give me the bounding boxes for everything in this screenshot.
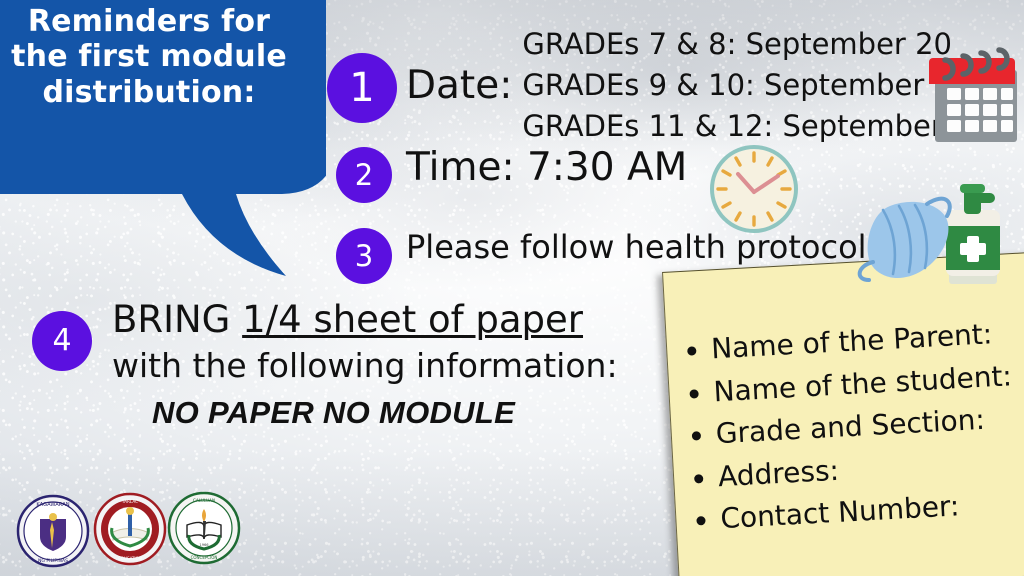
calendar-icon <box>925 36 1024 148</box>
number-badge-1: 1 <box>327 53 397 123</box>
clock-icon <box>707 142 801 236</box>
svg-text:CALULUAN: CALULUAN <box>193 498 215 503</box>
svg-text:NG PILIPINAS: NG PILIPINAS <box>38 558 68 564</box>
no-paper-no-module-emphasis: NO PAPER NO MODULE <box>152 396 682 430</box>
yellow-sticky-note: Name of the Parent: Name of the student:… <box>662 252 1024 576</box>
date-lines: GRADEs 7 & 8: September 20 GRADEs 9 & 10… <box>522 24 989 148</box>
number-badge-2: 2 <box>336 147 392 203</box>
surgical-mask <box>860 199 950 280</box>
bring-underlined-text: 1/4 sheet of paper <box>242 298 583 341</box>
bubble-line-2: the first module <box>0 39 302 74</box>
deped-seal: KAGAWARAN NG PILIPINAS <box>16 494 90 568</box>
poster-canvas: Reminders for the first module distribut… <box>0 0 1024 576</box>
date-line-grades-7-8: GRADEs 7 & 8: September 20 <box>522 24 989 65</box>
time-item: Time: 7:30 AM <box>406 148 687 187</box>
bubble-line-1: Reminders for <box>0 4 302 39</box>
number-badge-3: 3 <box>336 228 392 284</box>
speech-bubble-text: Reminders for the first module distribut… <box>0 4 302 110</box>
caluluan-high-school-seal: CALULUAN 1966 CONCEPCION <box>167 491 241 565</box>
schools-division-tarlac-seal: TARLAC EDUCATION <box>93 492 167 566</box>
sanitizer-bottle <box>946 184 1000 284</box>
svg-text:KAGAWARAN: KAGAWARAN <box>36 502 69 508</box>
number-badge-4: 4 <box>32 311 92 371</box>
required-information-list: Name of the Parent: Name of the student:… <box>682 312 1020 542</box>
bring-paper-item: BRING 1/4 sheet of paper with the follow… <box>112 300 682 430</box>
date-label: Date: <box>406 66 512 105</box>
reminders-speech-bubble: Reminders for the first module distribut… <box>0 0 326 284</box>
bring-prefix: BRING <box>112 298 242 341</box>
date-line-grades-9-10: GRADEs 9 & 10: September 21 <box>522 65 989 106</box>
svg-text:TARLAC: TARLAC <box>121 499 138 504</box>
svg-text:EDUCATION: EDUCATION <box>118 556 142 561</box>
date-item: Date: GRADEs 7 & 8: September 20 GRADEs … <box>406 24 946 148</box>
svg-text:CONCEPCION: CONCEPCION <box>191 555 218 560</box>
bring-subline: with the following information: <box>112 348 682 385</box>
svg-text:1966: 1966 <box>199 543 209 547</box>
bubble-line-3: distribution: <box>0 75 302 110</box>
bring-paper-headline: BRING 1/4 sheet of paper <box>112 300 682 341</box>
face-mask-and-sanitizer-icon <box>853 182 1021 290</box>
